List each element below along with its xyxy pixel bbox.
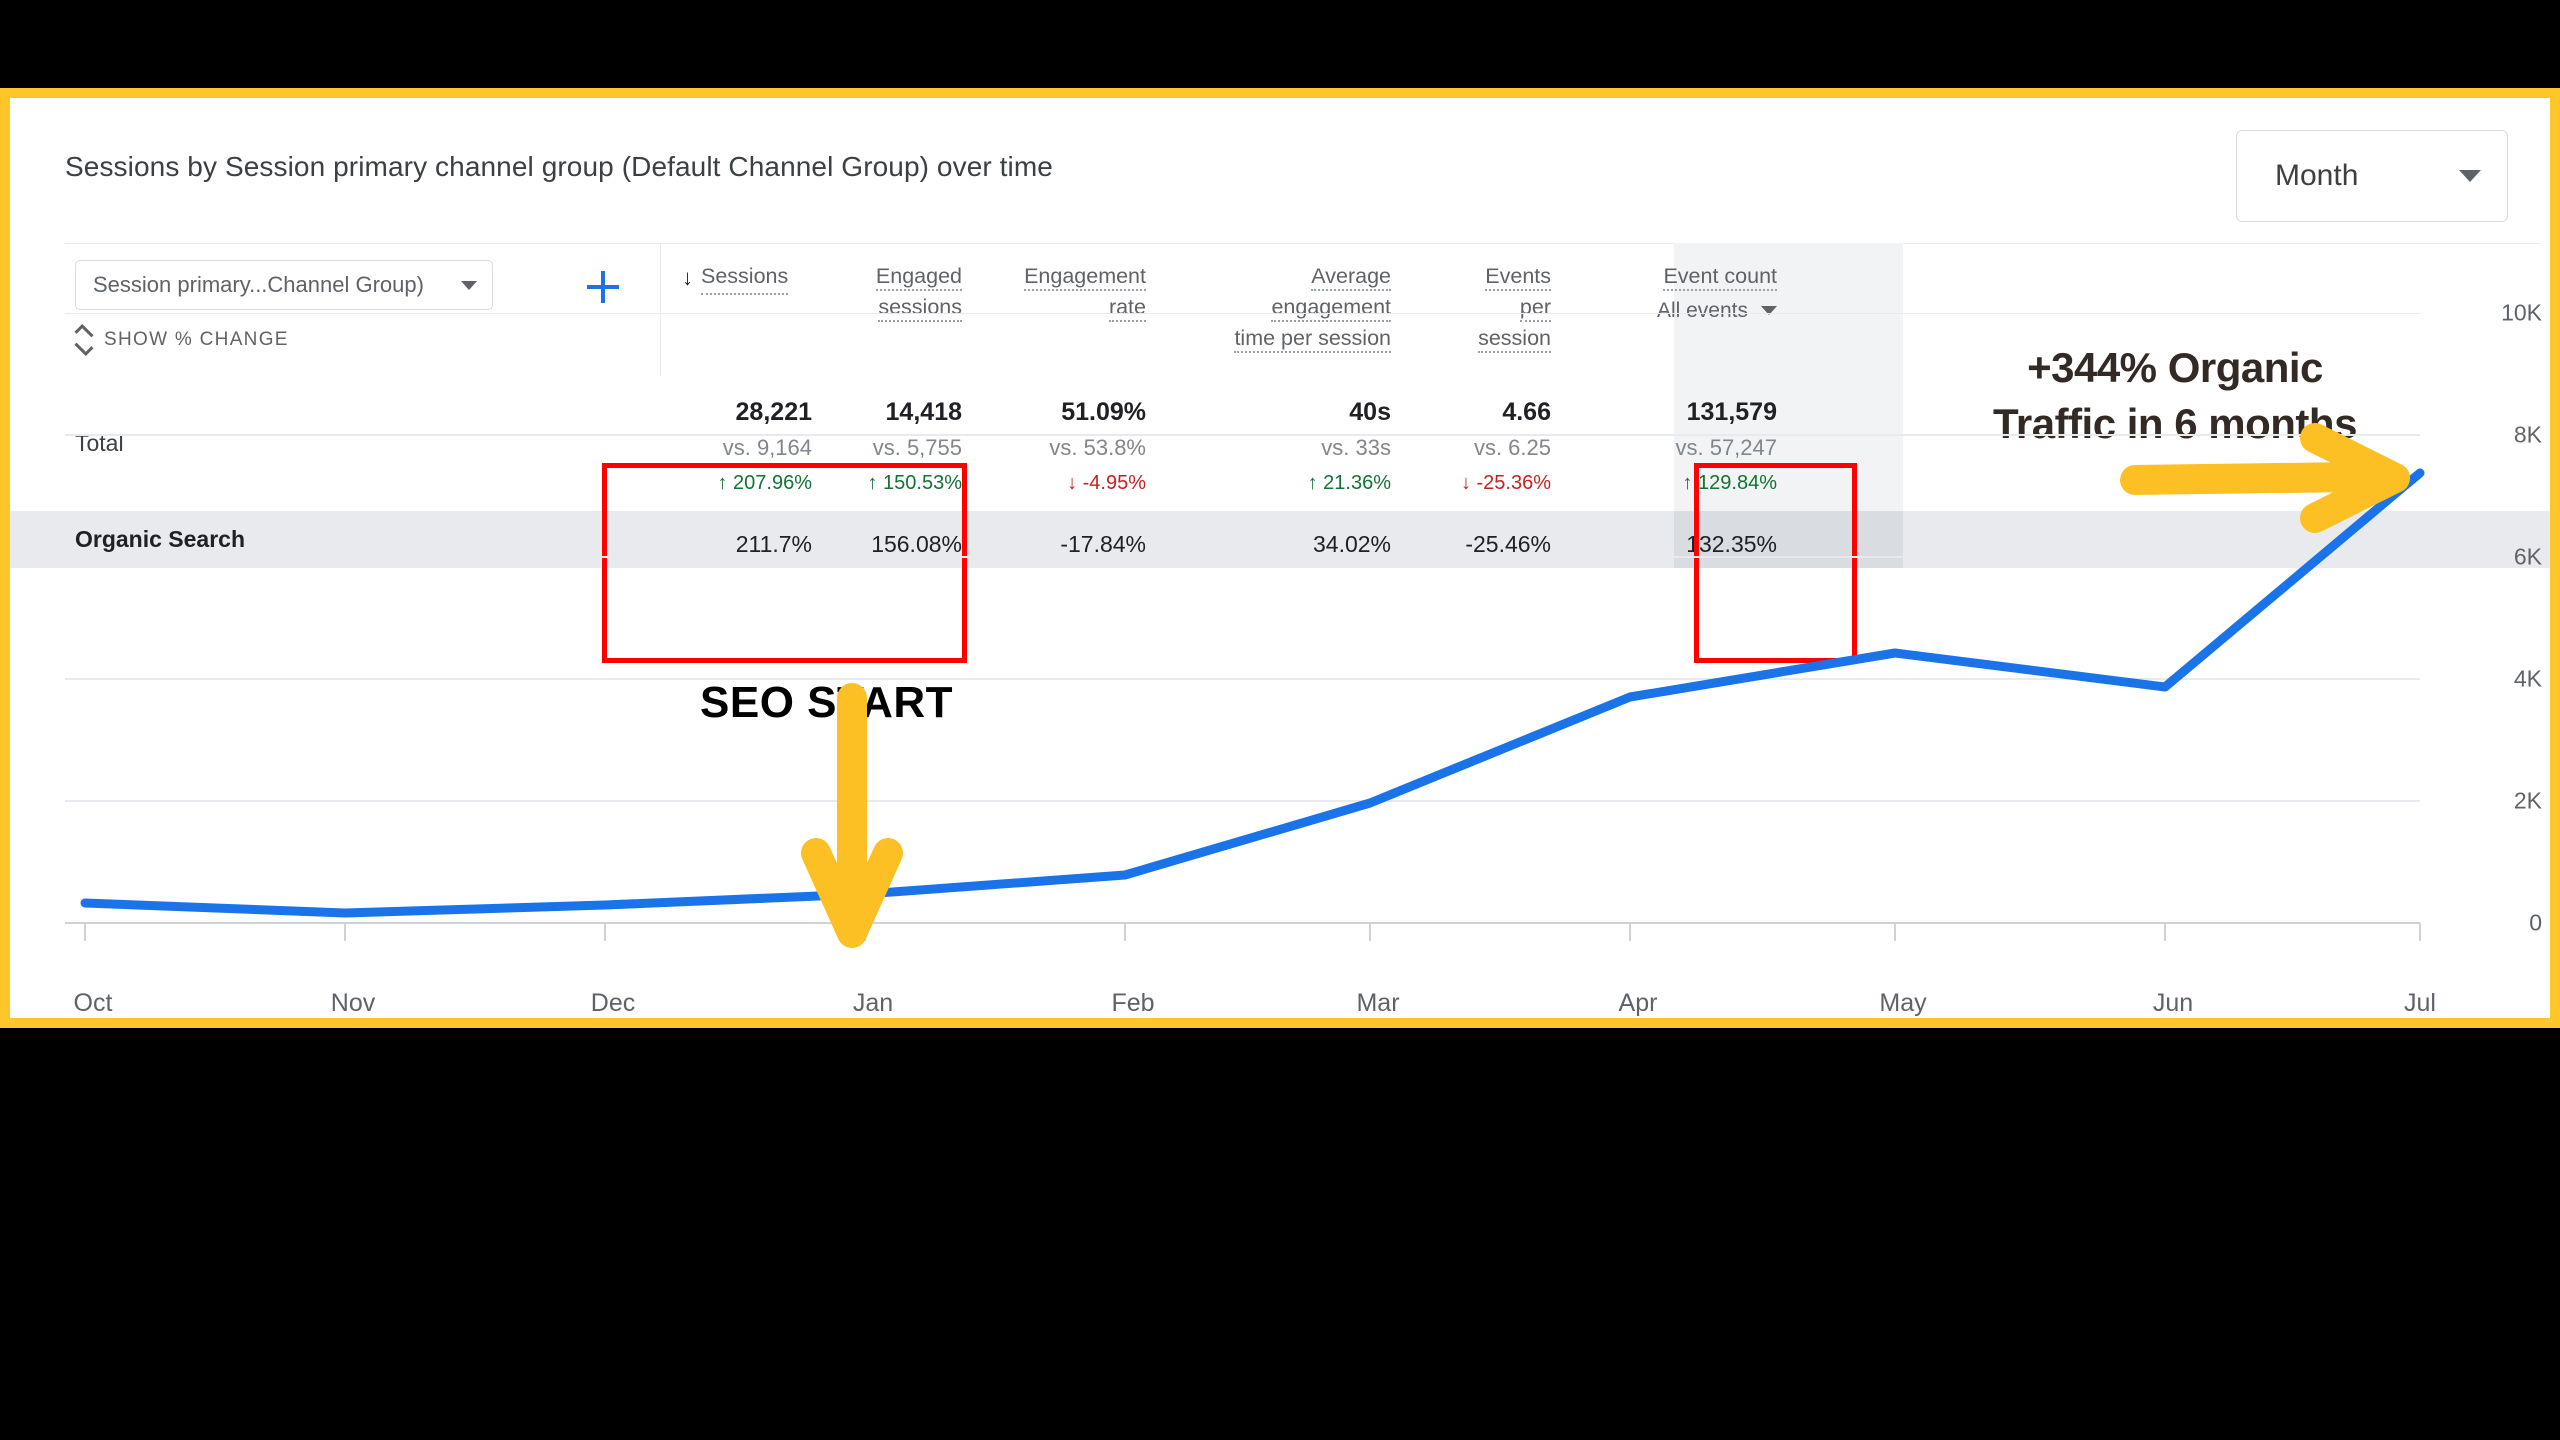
column-header-label: Sessions bbox=[701, 261, 788, 295]
x-tick-label: Oct bbox=[74, 989, 113, 1018]
y-tick-label: 0 bbox=[2472, 910, 2542, 937]
y-tick-label: 2K bbox=[2472, 788, 2542, 815]
y-tick-label: 10K bbox=[2472, 300, 2542, 327]
y-tick-label: 8K bbox=[2472, 422, 2542, 449]
arrow-down-icon: ↓ bbox=[682, 267, 693, 289]
dimension-value: Session primary...Channel Group) bbox=[93, 272, 424, 298]
sessions-line-chart bbox=[65, 313, 2480, 1018]
chart-x-axis: Oct Nov Dec Jan Feb Mar Apr May Jun Jul bbox=[65, 958, 2480, 1018]
x-tick-label: Dec bbox=[591, 989, 635, 1018]
add-dimension-button[interactable] bbox=[585, 269, 621, 305]
x-tick-label: Jan bbox=[853, 989, 893, 1018]
granularity-value: Month bbox=[2275, 159, 2358, 193]
granularity-select[interactable]: Month bbox=[2236, 130, 2508, 222]
screenshot-stage: Sessions by Session primary channel grou… bbox=[0, 0, 2560, 1440]
dimension-select[interactable]: Session primary...Channel Group) bbox=[75, 260, 493, 310]
x-tick-label: Nov bbox=[331, 989, 375, 1018]
x-tick-label: Jun bbox=[2153, 989, 2193, 1018]
column-header-label: Average bbox=[1311, 264, 1391, 291]
y-tick-label: 6K bbox=[2472, 544, 2542, 571]
chart-gridlines bbox=[65, 313, 2420, 923]
column-header-label: Events bbox=[1485, 264, 1551, 291]
y-tick-label: 4K bbox=[2472, 666, 2542, 693]
column-header-label: Event count bbox=[1663, 264, 1777, 291]
x-tick-label: Apr bbox=[1619, 989, 1658, 1018]
chevron-down-icon bbox=[461, 281, 477, 290]
chevron-down-icon bbox=[2459, 170, 2481, 182]
x-tick-label: Mar bbox=[1356, 989, 1399, 1018]
column-header-label: Engagement bbox=[1024, 264, 1146, 291]
x-tick-label: Jul bbox=[2404, 989, 2436, 1018]
report-card: Sessions by Session primary channel grou… bbox=[0, 88, 2560, 1028]
column-header-label: Engaged bbox=[876, 264, 962, 291]
page-title: Sessions by Session primary channel grou… bbox=[65, 151, 1053, 183]
chart-series-organic-search bbox=[85, 473, 2420, 913]
chart-x-ticks bbox=[85, 923, 2420, 941]
x-tick-label: May bbox=[1879, 989, 1926, 1018]
x-tick-label: Feb bbox=[1111, 989, 1154, 1018]
